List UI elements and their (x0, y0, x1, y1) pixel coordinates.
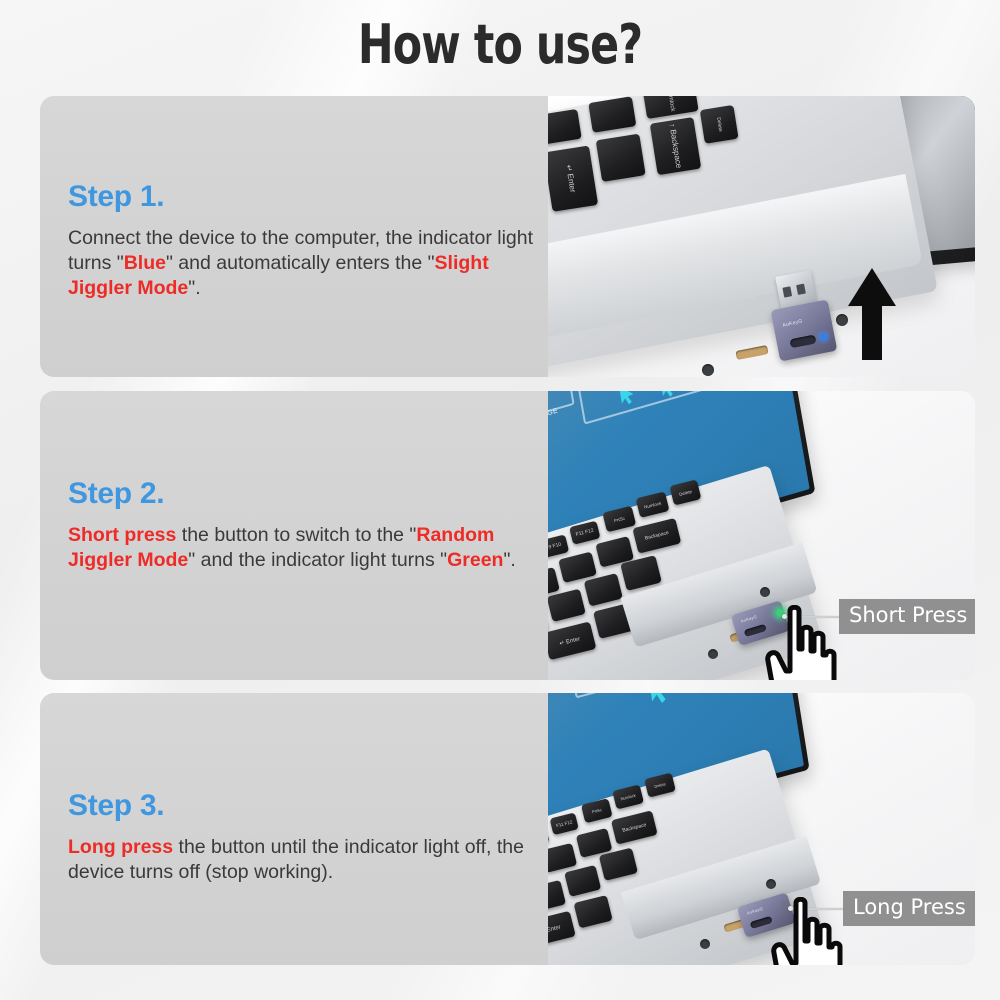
sondage-label: SONDAGE (548, 693, 556, 696)
step-3-description: Long press the button until the indicato… (68, 835, 558, 885)
key-row4-c (574, 895, 613, 928)
key-row3-b (548, 880, 566, 912)
long-press-tag: Long Press (843, 891, 975, 926)
step-2-seg-5: ". (503, 549, 515, 571)
key-numlock-insert: Numlock (643, 96, 699, 119)
sondage-card (548, 391, 575, 422)
pointing-hand-cursor-icon (764, 605, 840, 680)
key-bracket-right (588, 96, 636, 133)
key-row3-c (564, 865, 601, 897)
step-3-photo: SONDAGE Créer des sondage pour les utili… (548, 693, 975, 965)
step-3-seg-0: Long press (68, 836, 173, 858)
indicator-led-blue (820, 333, 827, 340)
key-f11-f12: F11 F12 (550, 812, 579, 835)
sondage-label: SONDAGE (548, 407, 559, 425)
pointing-hand-cursor-icon (770, 897, 846, 965)
step-2-seg-1: the button to switch to the " (176, 524, 416, 546)
step-2-panel: Step 2. Short press the button to switch… (40, 391, 975, 680)
cursor-arrow-icon (647, 693, 673, 707)
step-1-panel: Step 1. Connect the device to the comput… (40, 96, 975, 377)
key-bracket-left (548, 109, 582, 145)
key-f9-f10: F9 F10 (548, 826, 549, 849)
step-2-photo: SONDAGE Créer des sondage pour les utili… (548, 391, 975, 680)
step-2-seg-3: " and the indicator light turns " (188, 549, 447, 571)
key-backspace: Backspace (632, 518, 681, 554)
step-2-seg-4: Green (447, 549, 503, 571)
step-3-panel: Step 3. Long press the button until the … (40, 693, 975, 965)
page-title: How to use? (60, 16, 940, 74)
key-enter: ↵ Enter (548, 621, 596, 660)
step-2-label: Step 2. (68, 477, 164, 511)
key-enter: ↵ Enter (548, 911, 576, 947)
key-f11-f12: F11 F12 (569, 521, 601, 545)
key-backspace: Backspace (611, 810, 658, 844)
adapter-body: AuKeyG (771, 299, 838, 361)
adapter-brand-text: AuKeyG (746, 906, 763, 916)
audio-jack-port (708, 649, 718, 659)
audio-jack-port (700, 939, 710, 949)
adapter-usb-c-port (789, 334, 816, 348)
step-1-seg-4: ". (188, 277, 200, 299)
step-1-text-column: Step 1. Connect the device to the comput… (68, 96, 548, 377)
secondary-jack-port (760, 587, 770, 597)
adapter-brand-text: AuKeyG (740, 614, 757, 624)
step-1-seg-2: " and automatically enters the " (166, 252, 435, 274)
key-delete-drop: Delete (700, 105, 739, 144)
step-2-text-column: Step 2. Short press the button to switch… (68, 391, 548, 680)
key-row2-b (548, 843, 577, 873)
key-backslash (596, 134, 646, 182)
short-press-tag: Short Press (839, 599, 975, 634)
key-row3-b (548, 589, 586, 622)
key-row3-c (584, 573, 623, 606)
step-3-text-column: Step 3. Long press the button until the … (68, 693, 548, 965)
step-1-description: Connect the device to the computer, the … (68, 226, 558, 301)
key-backspace: ↑ Backspace (650, 117, 702, 175)
step-1-label: Step 1. (68, 180, 164, 214)
key-f9-f10: F9 F10 (548, 534, 569, 558)
up-arrow-icon (844, 266, 900, 362)
step-1-seg-1: Blue (124, 252, 166, 274)
step-1-photo: + Numlock ⇧ Shift ↵ Enter ↑ Backspace De… (548, 96, 975, 377)
step-3-label: Step 3. (68, 789, 164, 823)
adapter-brand-text: AuKeyG (782, 318, 803, 328)
secondary-jack-port (766, 879, 776, 889)
key-enter: ↵ Enter (548, 145, 598, 211)
key-row3-d (599, 848, 638, 881)
step-2-description: Short press the button to switch to the … (68, 523, 558, 573)
step-2-seg-0: Short press (68, 524, 176, 546)
